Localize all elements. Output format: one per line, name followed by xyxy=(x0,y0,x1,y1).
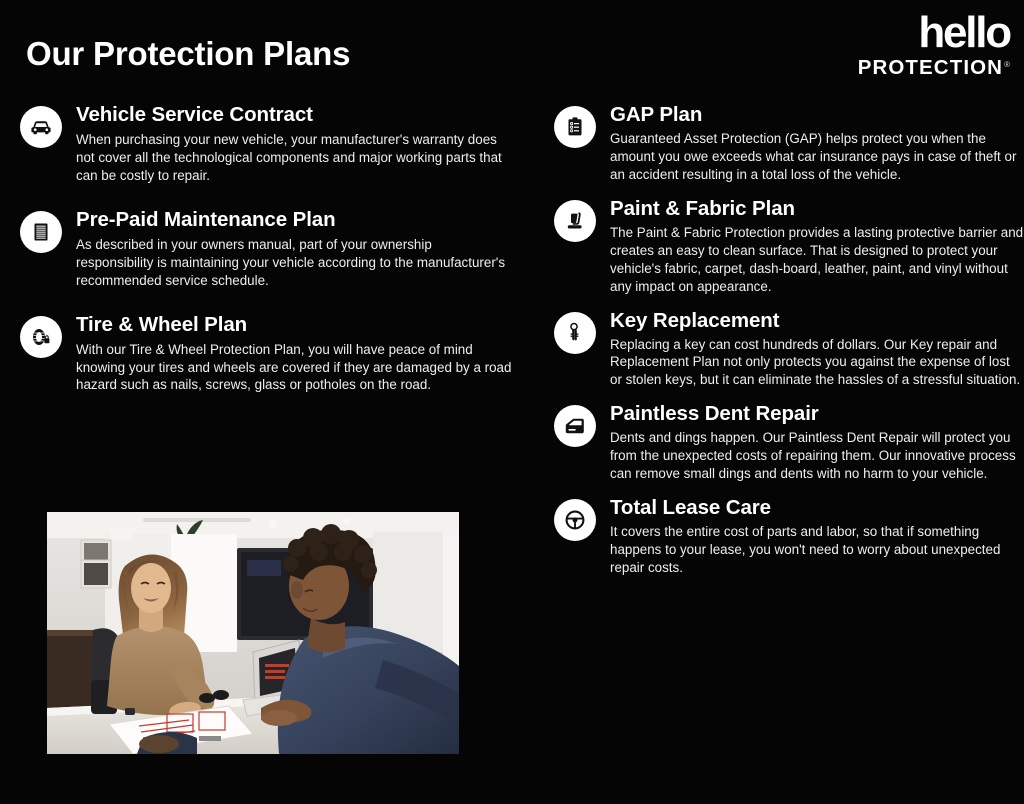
plan-vehicle-service-contract[interactable]: Vehicle Service Contract When purchasing… xyxy=(0,104,512,185)
plan-paintless-dent-repair[interactable]: Paintless Dent Repair Dents and dings ha… xyxy=(546,403,1024,483)
plan-key-replacement[interactable]: Key Replacement Replacing a key can cost… xyxy=(546,310,1024,390)
logo-subtitle: PROTECTION xyxy=(858,56,1003,79)
logo-wordmark: hello xyxy=(838,12,1010,54)
dealership-photo xyxy=(47,512,459,754)
plan-title: Total Lease Care xyxy=(610,497,1024,520)
plan-title: GAP Plan xyxy=(610,104,1024,127)
plan-title: Paintless Dent Repair xyxy=(610,403,1024,426)
steering-wheel-icon xyxy=(554,499,596,541)
plan-description: Replacing a key can cost hundreds of dol… xyxy=(610,336,1024,390)
left-plans-column: Vehicle Service Contract When purchasing… xyxy=(0,104,512,418)
plan-description: When purchasing your new vehicle, your m… xyxy=(76,131,512,185)
plan-body: Total Lease Care It covers the entire co… xyxy=(546,497,1024,577)
plan-body: Pre-Paid Maintenance Plan As described i… xyxy=(0,209,512,290)
plan-description: Dents and dings happen. Our Paintless De… xyxy=(610,429,1024,483)
car-seat-icon xyxy=(554,200,596,242)
document-icon xyxy=(20,211,62,253)
plan-description: With our Tire & Wheel Protection Plan, y… xyxy=(76,341,512,395)
logo-subtitle-wrap: PROTECTION® xyxy=(838,56,1010,80)
plan-title: Pre-Paid Maintenance Plan xyxy=(76,209,512,232)
registered-mark-icon: ® xyxy=(1004,60,1010,69)
right-plans-column: GAP Plan Guaranteed Asset Protection (GA… xyxy=(546,104,1024,591)
plan-body: Key Replacement Replacing a key can cost… xyxy=(546,310,1024,390)
plan-body: Vehicle Service Contract When purchasing… xyxy=(0,104,512,185)
plan-body: Tire & Wheel Plan With our Tire & Wheel … xyxy=(0,314,512,395)
plan-body: GAP Plan Guaranteed Asset Protection (GA… xyxy=(546,104,1024,184)
plan-body: Paintless Dent Repair Dents and dings ha… xyxy=(546,403,1024,483)
plan-description: The Paint & Fabric Protection provides a… xyxy=(610,224,1024,296)
page-title: Our Protection Plans xyxy=(26,36,350,72)
plan-description: It covers the entire cost of parts and l… xyxy=(610,523,1024,577)
car-icon xyxy=(20,106,62,148)
plan-pre-paid-maintenance[interactable]: Pre-Paid Maintenance Plan As described i… xyxy=(0,209,512,290)
plan-title: Vehicle Service Contract xyxy=(76,104,512,127)
plan-title: Tire & Wheel Plan xyxy=(76,314,512,337)
keys-icon xyxy=(554,312,596,354)
plan-description: Guaranteed Asset Protection (GAP) helps … xyxy=(610,130,1024,184)
hello-protection-logo: hello PROTECTION® xyxy=(838,12,1010,80)
plan-gap[interactable]: GAP Plan Guaranteed Asset Protection (GA… xyxy=(546,104,1024,184)
plan-paint-and-fabric[interactable]: Paint & Fabric Plan The Paint & Fabric P… xyxy=(546,198,1024,296)
plan-tire-and-wheel[interactable]: Tire & Wheel Plan With our Tire & Wheel … xyxy=(0,314,512,395)
plan-body: Paint & Fabric Plan The Paint & Fabric P… xyxy=(546,198,1024,296)
protection-plans-page: Our Protection Plans hello PROTECTION® V… xyxy=(0,0,1024,804)
plan-title: Paint & Fabric Plan xyxy=(610,198,1024,221)
dealership-photo-illustration xyxy=(47,512,459,754)
plan-description: As described in your owners manual, part… xyxy=(76,236,512,290)
plan-title: Key Replacement xyxy=(610,310,1024,333)
clipboard-checklist-icon xyxy=(554,106,596,148)
plan-total-lease-care[interactable]: Total Lease Care It covers the entire co… xyxy=(546,497,1024,577)
tire-lock-icon xyxy=(20,316,62,358)
